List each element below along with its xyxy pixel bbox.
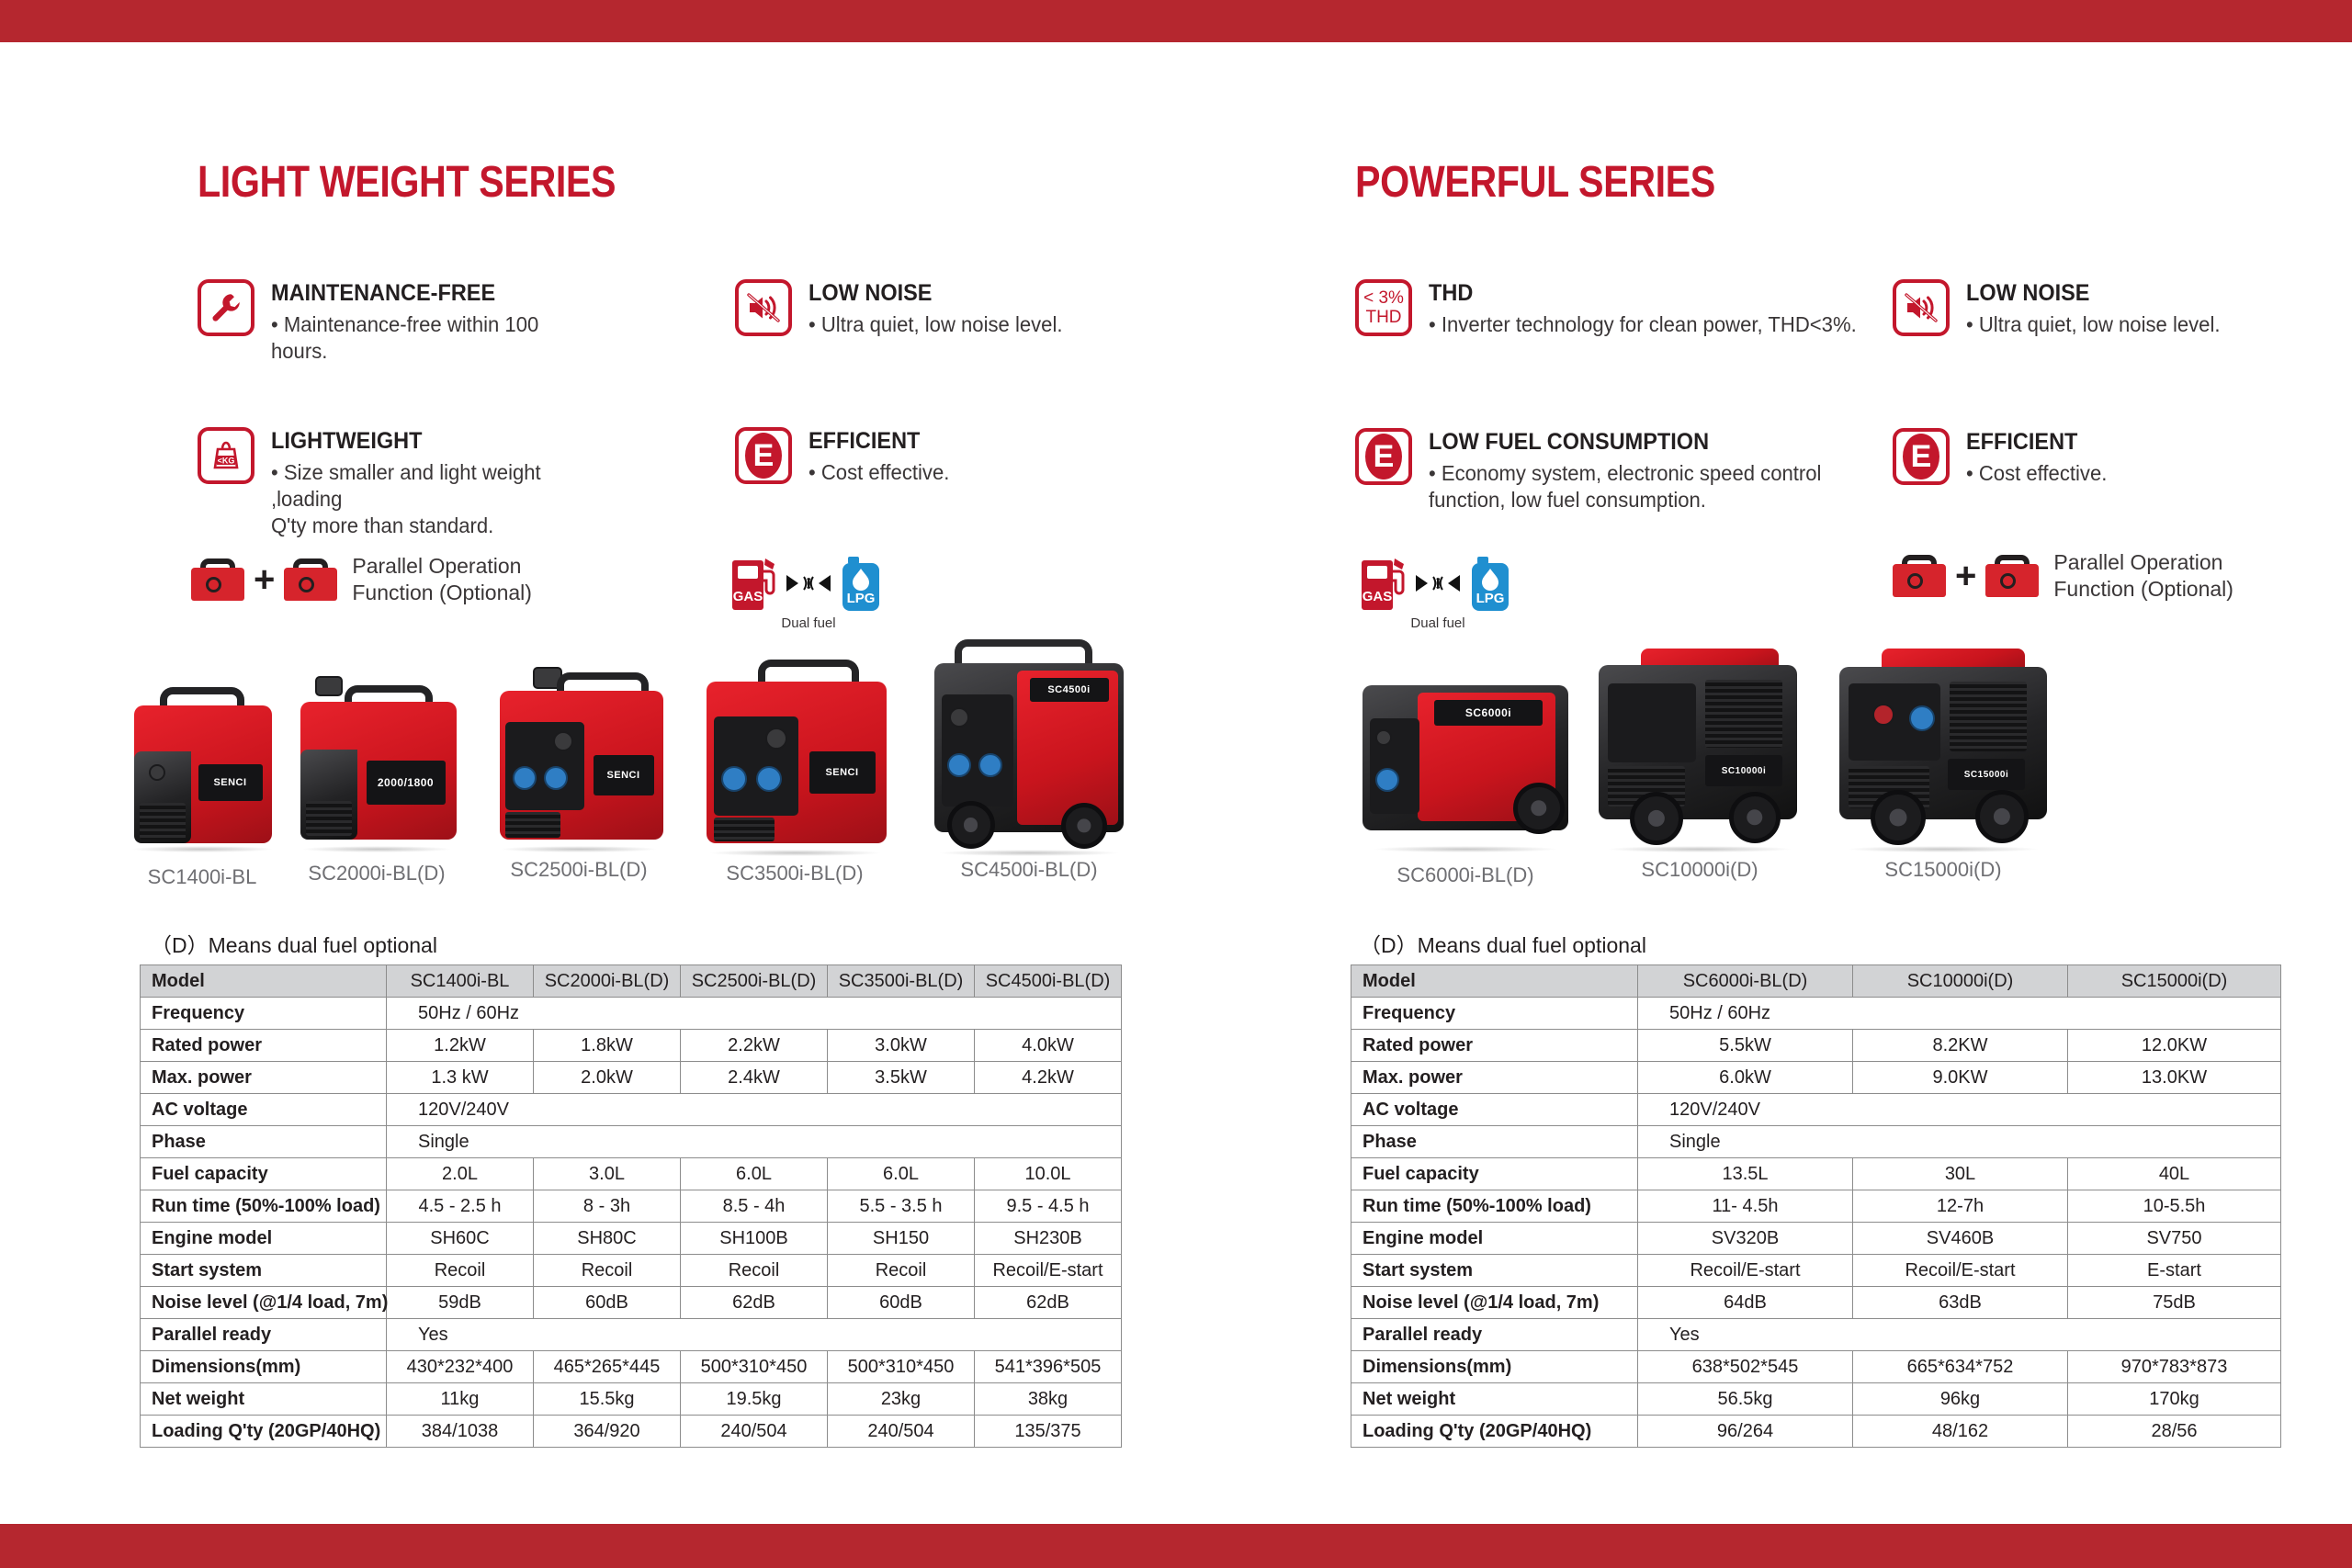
- row-value: 1.3 kW: [387, 1062, 534, 1094]
- svg-text:<KG: <KG: [218, 456, 235, 465]
- row-label: Noise level (@1/4 load, 7m): [141, 1287, 387, 1319]
- svg-text:LPG: LPG: [847, 591, 876, 606]
- feature-heading: EFFICIENT: [1966, 430, 2104, 454]
- row-value: Recoil: [681, 1255, 828, 1287]
- row-value: 6.0kW: [1638, 1062, 1853, 1094]
- row-value-span: 50Hz / 60Hz: [1638, 998, 2281, 1030]
- row-value: 2.0kW: [534, 1062, 681, 1094]
- product-name: SC4500i-BL(D): [914, 858, 1144, 882]
- feature-lightweight: <KG LIGHTWEIGHT • Size smaller and light…: [198, 427, 602, 539]
- dual-fuel-note: （D）Means dual fuel optional: [151, 928, 437, 959]
- row-value: Recoil/E-start: [1638, 1255, 1853, 1287]
- row-label: Fuel capacity: [141, 1158, 387, 1190]
- thd-icon: < 3% THD: [1355, 279, 1412, 336]
- thd-icon-line1: < 3%: [1363, 288, 1404, 308]
- feature-body: • Ultra quiet, low noise level.: [1966, 311, 2221, 338]
- row-value: 38kg: [975, 1383, 1122, 1416]
- svg-text:LPG: LPG: [1476, 591, 1505, 606]
- product-name: SC1400i-BL: [110, 865, 294, 889]
- feature-low-noise: LOW NOISE • Ultra quiet, low noise level…: [735, 279, 1121, 338]
- dual-fuel-arrows-icon: [1409, 568, 1466, 599]
- table-row: Rated power5.5kW8.2KW12.0KW: [1351, 1030, 2281, 1062]
- row-value: 15.5kg: [534, 1383, 681, 1416]
- row-value: 96kg: [1853, 1383, 2068, 1416]
- row-value: 12-7h: [1853, 1190, 2068, 1223]
- row-value: SH60C: [387, 1223, 534, 1255]
- e-glyph: E: [1365, 434, 1402, 479]
- row-value: 4.5 - 2.5 h: [387, 1190, 534, 1223]
- dual-fuel-block: GAS LPG Dual fuel: [726, 555, 891, 631]
- product-card: SC10000i SC10000i(D): [1580, 649, 1819, 882]
- table-row: Start systemRecoilRecoilRecoilRecoilReco…: [141, 1255, 1122, 1287]
- generator-image: SENCI: [692, 660, 899, 854]
- table-row: Max. power6.0kW9.0KW13.0KW: [1351, 1062, 2281, 1094]
- thd-icon-line2: THD: [1365, 308, 1401, 327]
- product-name: SC6000i-BL(D): [1346, 863, 1585, 887]
- row-label: Net weight: [141, 1383, 387, 1416]
- feature-thd: < 3% THD THD • Inverter technology for c…: [1355, 279, 1888, 338]
- row-value: 465*265*445: [534, 1351, 681, 1383]
- row-value: 2.2kW: [681, 1030, 828, 1062]
- dual-fuel-block: GAS LPG Dual fuel: [1355, 555, 1521, 631]
- row-value-span: 120V/240V: [387, 1094, 1122, 1126]
- row-value-span: Single: [1638, 1126, 2281, 1158]
- row-value: 13.5L: [1638, 1158, 1853, 1190]
- row-value: 75dB: [2068, 1287, 2281, 1319]
- product-card: 2000/1800 SC2000i-BL(D): [280, 676, 473, 886]
- row-label: Run time (50%-100% load): [1351, 1190, 1638, 1223]
- powerful-series-section: POWERFUL SERIES < 3% THD THD • Inverter …: [1176, 42, 2352, 1524]
- table-row: Dimensions(mm)638*502*545665*634*752970*…: [1351, 1351, 2281, 1383]
- row-value: SH150: [828, 1223, 975, 1255]
- header-bar: [0, 0, 2352, 42]
- row-value: 6.0L: [828, 1158, 975, 1190]
- product-name: SC3500i-BL(D): [684, 862, 905, 886]
- row-value: 59dB: [387, 1287, 534, 1319]
- generator-mini-icon: [1985, 555, 2039, 597]
- svg-text:GAS: GAS: [1363, 589, 1393, 604]
- row-value: 96/264: [1638, 1416, 1853, 1448]
- feature-heading: EFFICIENT: [808, 429, 946, 453]
- mute-speaker-icon: [735, 279, 792, 336]
- generator-image: 2000/1800: [288, 676, 467, 851]
- efficiency-e-icon: E: [1355, 428, 1412, 485]
- row-value: 2.0L: [387, 1158, 534, 1190]
- row-value: SV460B: [1853, 1223, 2068, 1255]
- product-card: SENCI SC3500i-BL(D): [684, 660, 905, 886]
- row-label: Frequency: [141, 998, 387, 1030]
- row-value: 60dB: [828, 1287, 975, 1319]
- feature-body: • Inverter technology for clean power, T…: [1429, 311, 1857, 338]
- product-card: SC15000i SC15000i(D): [1819, 649, 2067, 882]
- row-label: Rated power: [1351, 1030, 1638, 1062]
- feature-heading: LOW FUEL CONSUMPTION: [1429, 430, 1814, 454]
- row-value: 10.0L: [975, 1158, 1122, 1190]
- table-row: Engine modelSH60CSH80CSH100BSH150SH230B: [141, 1223, 1122, 1255]
- table-row: Net weight11kg15.5kg19.5kg23kg38kg: [141, 1383, 1122, 1416]
- lpg-cylinder-icon: LPG: [839, 555, 887, 612]
- row-value: 56.5kg: [1638, 1383, 1853, 1416]
- row-value: 62dB: [681, 1287, 828, 1319]
- table-row: Dimensions(mm)430*232*400465*265*445500*…: [141, 1351, 1122, 1383]
- dual-fuel-note: （D）Means dual fuel optional: [1360, 928, 1646, 959]
- table-header-model: Model: [141, 965, 387, 998]
- parallel-operation-label: Parallel Operation Function (Optional): [2053, 549, 2233, 603]
- wrench-icon: [198, 279, 254, 336]
- row-value: SV750: [2068, 1223, 2281, 1255]
- table-row: Fuel capacity13.5L30L40L: [1351, 1158, 2281, 1190]
- generator-image: SC10000i: [1589, 649, 1810, 851]
- feature-low-fuel-consumption: E LOW FUEL CONSUMPTION • Economy system,…: [1355, 428, 1870, 513]
- row-value: 135/375: [975, 1416, 1122, 1448]
- row-value-span: Yes: [1638, 1319, 2281, 1351]
- table-row: Run time (50%-100% load)11- 4.5h12-7h10-…: [1351, 1190, 2281, 1223]
- row-label: Run time (50%-100% load): [141, 1190, 387, 1223]
- table-row: PhaseSingle: [141, 1126, 1122, 1158]
- table-row: Parallel readyYes: [141, 1319, 1122, 1351]
- row-value: 170kg: [2068, 1383, 2281, 1416]
- footer-bar: [0, 1524, 2352, 1568]
- row-value: 48/162: [1853, 1416, 2068, 1448]
- row-label: Engine model: [1351, 1223, 1638, 1255]
- row-value-span: 50Hz / 60Hz: [387, 998, 1122, 1030]
- row-label: Fuel capacity: [1351, 1158, 1638, 1190]
- row-value: 8.2KW: [1853, 1030, 2068, 1062]
- row-value: 63dB: [1853, 1287, 2068, 1319]
- feature-body: • Economy system, electronic speed contr…: [1429, 460, 1821, 513]
- table-row: Max. power1.3 kW2.0kW2.4kW3.5kW4.2kW: [141, 1062, 1122, 1094]
- row-value: 19.5kg: [681, 1383, 828, 1416]
- product-name: SC2500i-BL(D): [478, 858, 680, 882]
- table-header-model-SC2500i-BL(D): SC2500i-BL(D): [681, 965, 828, 998]
- row-value: 5.5kW: [1638, 1030, 1853, 1062]
- e-glyph: E: [1903, 434, 1939, 479]
- row-value: 364/920: [534, 1416, 681, 1448]
- row-label: Max. power: [1351, 1062, 1638, 1094]
- row-label: Start system: [1351, 1255, 1638, 1287]
- feature-efficient: E EFFICIENT • Cost effective.: [1893, 428, 2260, 487]
- generator-image: SC6000i: [1355, 676, 1576, 851]
- parallel-operation-block: + Parallel Operation Function (Optional): [1893, 549, 2233, 603]
- row-label: Engine model: [141, 1223, 387, 1255]
- row-value: 384/1038: [387, 1416, 534, 1448]
- product-name: SC10000i(D): [1580, 858, 1819, 882]
- row-value: 4.0kW: [975, 1030, 1122, 1062]
- row-value: 60dB: [534, 1287, 681, 1319]
- generator-mini-icon: [284, 558, 337, 601]
- row-value: 9.0KW: [1853, 1062, 2068, 1094]
- table-header-row: ModelSC6000i-BL(D)SC10000i(D)SC15000i(D): [1351, 965, 2281, 998]
- table-row: Run time (50%-100% load)4.5 - 2.5 h8 - 3…: [141, 1190, 1122, 1223]
- efficiency-e-icon: E: [735, 427, 792, 484]
- row-value: 665*634*752: [1853, 1351, 2068, 1383]
- row-label: AC voltage: [141, 1094, 387, 1126]
- row-value: 240/504: [828, 1416, 975, 1448]
- row-value: 1.8kW: [534, 1030, 681, 1062]
- feature-body: • Cost effective.: [808, 459, 949, 486]
- product-card: SC4500i SC4500i-BL(D): [914, 639, 1144, 882]
- generator-mini-icon: [191, 558, 244, 601]
- row-value: 1.2kW: [387, 1030, 534, 1062]
- table-row: Loading Q'ty (20GP/40HQ)384/1038364/9202…: [141, 1416, 1122, 1448]
- row-label: Loading Q'ty (20GP/40HQ): [141, 1416, 387, 1448]
- product-name: SC2000i-BL(D): [280, 862, 473, 886]
- product-card: SENCI SC1400i-BL: [110, 685, 294, 889]
- table-row: Loading Q'ty (20GP/40HQ)96/26448/16228/5…: [1351, 1416, 2281, 1448]
- product-name: SC15000i(D): [1819, 858, 2067, 882]
- row-value: 8 - 3h: [534, 1190, 681, 1223]
- row-value: 28/56: [2068, 1416, 2281, 1448]
- row-value: 13.0KW: [2068, 1062, 2281, 1094]
- feature-body: • Cost effective.: [1966, 460, 2107, 487]
- row-value: 11kg: [387, 1383, 534, 1416]
- row-label: Phase: [1351, 1126, 1638, 1158]
- generator-image: SC15000i: [1828, 649, 2058, 851]
- table-header-model-SC10000i(D): SC10000i(D): [1853, 965, 2068, 998]
- generator-mini-icon: [1893, 555, 1946, 597]
- feature-body: • Ultra quiet, low noise level.: [808, 311, 1063, 338]
- feature-body: • Size smaller and light weight ,loading…: [271, 459, 589, 538]
- row-label: Noise level (@1/4 load, 7m): [1351, 1287, 1638, 1319]
- dual-fuel-caption: Dual fuel: [726, 615, 891, 631]
- feature-heading: LOW NOISE: [1966, 281, 2215, 305]
- parallel-generators-icon: +: [191, 558, 337, 601]
- row-label: Net weight: [1351, 1383, 1638, 1416]
- product-card: SC6000i SC6000i-BL(D): [1346, 676, 1585, 887]
- table-header-model: Model: [1351, 965, 1638, 998]
- row-value: 9.5 - 4.5 h: [975, 1190, 1122, 1223]
- row-value: 62dB: [975, 1287, 1122, 1319]
- gas-pump-icon: GAS: [730, 555, 778, 612]
- lpg-cylinder-icon: LPG: [1468, 555, 1516, 612]
- efficiency-e-icon: E: [1893, 428, 1950, 485]
- table-row: AC voltage120V/240V: [1351, 1094, 2281, 1126]
- row-value: 30L: [1853, 1158, 2068, 1190]
- feature-maintenance-free: MAINTENANCE-FREE • Maintenance-free with…: [198, 279, 583, 365]
- table-row: Fuel capacity2.0L3.0L6.0L6.0L10.0L: [141, 1158, 1122, 1190]
- gas-pump-icon: GAS: [1360, 555, 1408, 612]
- feature-efficient: E EFFICIENT • Cost effective.: [735, 427, 1102, 486]
- row-value-span: 120V/240V: [1638, 1094, 2281, 1126]
- table-row: Frequency50Hz / 60Hz: [141, 998, 1122, 1030]
- table-row: PhaseSingle: [1351, 1126, 2281, 1158]
- table-row: Noise level (@1/4 load, 7m)59dB60dB62dB6…: [141, 1287, 1122, 1319]
- dual-fuel-caption: Dual fuel: [1355, 615, 1521, 631]
- table-header-model-SC2000i-BL(D): SC2000i-BL(D): [534, 965, 681, 998]
- table-row: Start systemRecoil/E-startRecoil/E-start…: [1351, 1255, 2281, 1287]
- row-label: AC voltage: [1351, 1094, 1638, 1126]
- light-weight-series-section: LIGHT WEIGHT SERIES MAINTENANCE-FREE • M…: [0, 42, 1176, 1524]
- feature-low-noise: LOW NOISE • Ultra quiet, low noise level…: [1893, 279, 2278, 338]
- row-value: 23kg: [828, 1383, 975, 1416]
- row-value: 6.0L: [681, 1158, 828, 1190]
- row-value: Recoil: [828, 1255, 975, 1287]
- row-value: 541*396*505: [975, 1351, 1122, 1383]
- table-row: Frequency50Hz / 60Hz: [1351, 998, 2281, 1030]
- row-value: 3.5kW: [828, 1062, 975, 1094]
- row-value: Recoil: [387, 1255, 534, 1287]
- generator-image: SENCI: [118, 685, 288, 851]
- row-value: 12.0KW: [2068, 1030, 2281, 1062]
- svg-text:GAS: GAS: [733, 589, 763, 604]
- row-value: 64dB: [1638, 1287, 1853, 1319]
- row-label: Phase: [141, 1126, 387, 1158]
- row-label: Max. power: [141, 1062, 387, 1094]
- feature-heading: THD: [1429, 281, 1848, 305]
- row-value: 430*232*400: [387, 1351, 534, 1383]
- table-header-model-SC6000i-BL(D): SC6000i-BL(D): [1638, 965, 1853, 998]
- parallel-operation-label: Parallel Operation Function (Optional): [352, 553, 532, 606]
- mute-speaker-icon: [1893, 279, 1950, 336]
- row-value: 240/504: [681, 1416, 828, 1448]
- table-row: Parallel readyYes: [1351, 1319, 2281, 1351]
- page-title-left: LIGHT WEIGHT SERIES: [198, 157, 616, 208]
- row-value: Recoil: [534, 1255, 681, 1287]
- row-value: E-start: [2068, 1255, 2281, 1287]
- page-title-right: POWERFUL SERIES: [1355, 157, 1715, 208]
- table-header-model-SC3500i-BL(D): SC3500i-BL(D): [828, 965, 975, 998]
- feature-body: • Maintenance-free within 100 hours.: [271, 311, 571, 365]
- weight-kg-icon: <KG: [198, 427, 254, 484]
- feature-heading: LOW NOISE: [808, 281, 1057, 305]
- parallel-operation-block: + Parallel Operation Function (Optional): [191, 553, 532, 606]
- spec-table-left: ModelSC1400i-BLSC2000i-BL(D)SC2500i-BL(D…: [140, 964, 1122, 1448]
- row-label: Frequency: [1351, 998, 1638, 1030]
- row-value: 500*310*450: [828, 1351, 975, 1383]
- row-value: 3.0kW: [828, 1030, 975, 1062]
- plus-sign: +: [254, 561, 275, 598]
- table-header-model-SC1400i-BL: SC1400i-BL: [387, 965, 534, 998]
- feature-heading: LIGHTWEIGHT: [271, 429, 582, 453]
- row-value: 40L: [2068, 1158, 2281, 1190]
- row-label: Dimensions(mm): [1351, 1351, 1638, 1383]
- e-glyph: E: [745, 433, 782, 479]
- row-value: 500*310*450: [681, 1351, 828, 1383]
- feature-heading: MAINTENANCE-FREE: [271, 281, 565, 305]
- row-value-span: Single: [387, 1126, 1122, 1158]
- row-label: Parallel ready: [1351, 1319, 1638, 1351]
- table-header-model-SC4500i-BL(D): SC4500i-BL(D): [975, 965, 1122, 998]
- row-value: 4.2kW: [975, 1062, 1122, 1094]
- row-label: Loading Q'ty (20GP/40HQ): [1351, 1416, 1638, 1448]
- row-value: 5.5 - 3.5 h: [828, 1190, 975, 1223]
- row-value: SH230B: [975, 1223, 1122, 1255]
- table-header-row: ModelSC1400i-BLSC2000i-BL(D)SC2500i-BL(D…: [141, 965, 1122, 998]
- row-value: 2.4kW: [681, 1062, 828, 1094]
- generator-image: SENCI: [485, 667, 673, 851]
- row-value: 11- 4.5h: [1638, 1190, 1853, 1223]
- table-row: Engine modelSV320BSV460BSV750: [1351, 1223, 2281, 1255]
- row-value: 8.5 - 4h: [681, 1190, 828, 1223]
- table-header-model-SC15000i(D): SC15000i(D): [2068, 965, 2281, 998]
- row-value-span: Yes: [387, 1319, 1122, 1351]
- table-row: Noise level (@1/4 load, 7m)64dB63dB75dB: [1351, 1287, 2281, 1319]
- brochure-page: LIGHT WEIGHT SERIES MAINTENANCE-FREE • M…: [0, 42, 2352, 1524]
- row-value: SH80C: [534, 1223, 681, 1255]
- row-value: Recoil/E-start: [1853, 1255, 2068, 1287]
- spec-table-right: ModelSC6000i-BL(D)SC10000i(D)SC15000i(D)…: [1351, 964, 2281, 1448]
- row-label: Parallel ready: [141, 1319, 387, 1351]
- row-value: SV320B: [1638, 1223, 1853, 1255]
- plus-sign: +: [1955, 558, 1976, 594]
- row-label: Rated power: [141, 1030, 387, 1062]
- row-value: 3.0L: [534, 1158, 681, 1190]
- product-card: SENCI SC2500i-BL(D): [478, 667, 680, 882]
- row-value: 970*783*873: [2068, 1351, 2281, 1383]
- table-row: Net weight56.5kg96kg170kg: [1351, 1383, 2281, 1416]
- table-row: AC voltage120V/240V: [141, 1094, 1122, 1126]
- row-label: Dimensions(mm): [141, 1351, 387, 1383]
- parallel-generators-icon: +: [1893, 555, 2039, 597]
- row-label: Start system: [141, 1255, 387, 1287]
- row-value: SH100B: [681, 1223, 828, 1255]
- generator-image: SC4500i: [922, 639, 1137, 854]
- row-value: Recoil/E-start: [975, 1255, 1122, 1287]
- row-value: 10-5.5h: [2068, 1190, 2281, 1223]
- table-row: Rated power1.2kW1.8kW2.2kW3.0kW4.0kW: [141, 1030, 1122, 1062]
- dual-fuel-arrows-icon: [780, 568, 837, 599]
- row-value: 638*502*545: [1638, 1351, 1853, 1383]
